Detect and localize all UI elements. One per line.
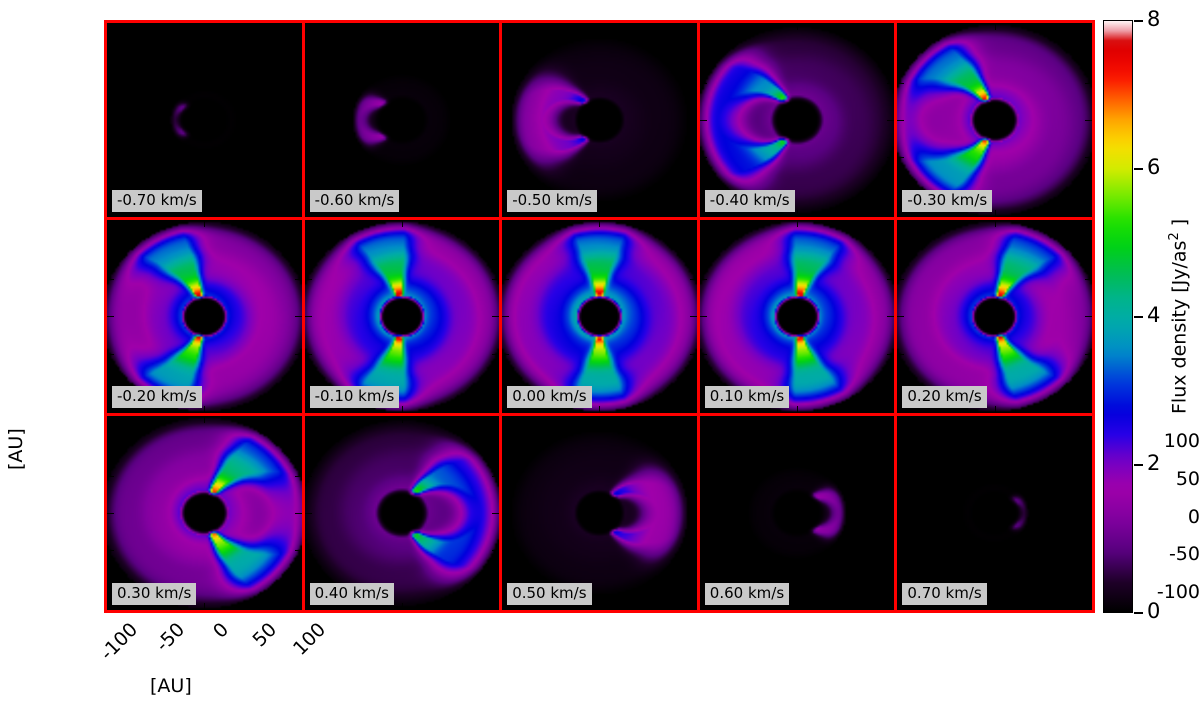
colorbar-tick-label: 8	[1147, 9, 1160, 30]
axis-tick	[502, 513, 509, 514]
velocity-label: 0.40 km/s	[310, 583, 394, 605]
channel-image	[305, 23, 500, 217]
axis-tick	[305, 476, 312, 477]
channel-panel[interactable]: 0.20 km/s	[897, 220, 1092, 414]
axis-tick	[674, 210, 675, 217]
axis-tick	[637, 220, 638, 227]
axis-tick	[402, 406, 403, 413]
axis-tick	[1085, 439, 1092, 440]
axis-tick	[690, 513, 697, 514]
axis-tick	[1070, 210, 1071, 217]
axis-tick	[402, 603, 403, 610]
axis-tick	[835, 220, 836, 227]
axis-tick	[872, 406, 873, 413]
axis-tick	[835, 603, 836, 610]
axis-tick	[242, 210, 243, 217]
axis-tick	[107, 550, 114, 551]
axis-tick	[957, 23, 958, 30]
axis-tick	[872, 23, 873, 30]
axis-tick	[887, 279, 894, 280]
axis-tick	[492, 316, 499, 317]
axis-tick	[1070, 406, 1071, 413]
axis-tick	[364, 416, 365, 423]
axis-tick	[204, 416, 205, 423]
axis-tick	[327, 416, 328, 423]
axis-tick	[107, 242, 114, 243]
axis-tick	[477, 416, 478, 423]
axis-tick	[204, 220, 205, 227]
colorbar-tick-label: 6	[1147, 157, 1160, 178]
axis-tick	[305, 45, 312, 46]
axis-tick	[995, 23, 996, 30]
axis-tick	[502, 279, 509, 280]
velocity-label: 0.10 km/s	[705, 386, 789, 408]
axis-tick	[599, 603, 600, 610]
channel-image	[700, 416, 895, 610]
axis-tick	[295, 120, 302, 121]
axis-tick	[690, 476, 697, 477]
axis-tick	[502, 316, 509, 317]
channel-panel[interactable]: -0.60 km/s	[305, 23, 500, 217]
axis-tick	[502, 476, 509, 477]
axis-tick	[1032, 416, 1033, 423]
axis-tick	[305, 120, 312, 121]
axis-tick	[897, 45, 904, 46]
axis-tick	[107, 476, 114, 477]
x-axis-label: [AU]	[150, 675, 192, 697]
axis-tick	[760, 220, 761, 227]
channel-image	[502, 23, 697, 217]
axis-tick	[204, 23, 205, 30]
velocity-label: -0.60 km/s	[310, 190, 400, 212]
axis-tick	[107, 83, 114, 84]
axis-tick	[835, 210, 836, 217]
axis-tick	[872, 220, 873, 227]
axis-tick	[887, 157, 894, 158]
x-tick-label: 0	[177, 620, 233, 676]
axis-tick	[700, 157, 707, 158]
axis-tick	[637, 210, 638, 217]
velocity-label: -0.10 km/s	[310, 386, 400, 408]
axis-tick	[327, 23, 328, 30]
axis-tick	[995, 406, 996, 413]
axis-tick	[1032, 23, 1033, 30]
axis-tick	[502, 439, 509, 440]
channel-panel[interactable]: -0.10 km/s	[305, 220, 500, 414]
colorbar-tick	[1134, 168, 1143, 170]
axis-tick	[599, 23, 600, 30]
axis-tick	[295, 550, 302, 551]
channel-image	[502, 220, 697, 414]
axis-tick	[690, 120, 697, 121]
axis-tick	[242, 23, 243, 30]
axis-tick	[477, 406, 478, 413]
channel-panel[interactable]: 0.40 km/s	[305, 416, 500, 610]
colorbar-tick	[1134, 316, 1143, 318]
axis-tick	[674, 406, 675, 413]
axis-tick	[1085, 83, 1092, 84]
axis-tick	[887, 550, 894, 551]
axis-tick	[295, 316, 302, 317]
axis-tick	[700, 242, 707, 243]
axis-tick	[797, 23, 798, 30]
axis-tick	[957, 416, 958, 423]
axis-tick	[700, 316, 707, 317]
axis-tick	[402, 23, 403, 30]
axis-tick	[872, 416, 873, 423]
axis-tick	[887, 194, 894, 195]
axis-tick	[364, 23, 365, 30]
axis-tick	[690, 354, 697, 355]
axis-tick	[492, 45, 499, 46]
axis-tick	[562, 220, 563, 227]
axis-tick	[887, 391, 894, 392]
axis-tick	[760, 416, 761, 423]
axis-tick	[477, 210, 478, 217]
axis-tick	[242, 416, 243, 423]
axis-tick	[502, 550, 509, 551]
axis-tick	[835, 406, 836, 413]
axis-tick	[402, 210, 403, 217]
panel-grid: -0.70 km/s-0.60 km/s-0.50 km/s-0.40 km/s…	[104, 20, 1095, 613]
channel-panel[interactable]: -0.70 km/s	[107, 23, 302, 217]
axis-tick	[1070, 416, 1071, 423]
axis-tick	[402, 416, 403, 423]
axis-tick	[1032, 210, 1033, 217]
axis-tick	[995, 220, 996, 227]
axis-tick	[492, 279, 499, 280]
velocity-label: -0.40 km/s	[705, 190, 795, 212]
axis-tick	[1085, 120, 1092, 121]
axis-tick	[674, 603, 675, 610]
axis-tick	[887, 316, 894, 317]
velocity-label: -0.50 km/s	[507, 190, 597, 212]
axis-tick	[295, 194, 302, 195]
axis-tick	[279, 210, 280, 217]
axis-tick	[492, 588, 499, 589]
channel-image	[305, 220, 500, 414]
axis-tick	[1070, 220, 1071, 227]
axis-tick	[1085, 550, 1092, 551]
x-tick-label: 100	[274, 620, 330, 676]
axis-tick	[1085, 242, 1092, 243]
axis-tick	[897, 157, 904, 158]
channel-panel[interactable]: -0.50 km/s	[502, 23, 697, 217]
axis-tick	[887, 476, 894, 477]
axis-tick	[887, 120, 894, 121]
axis-tick	[279, 416, 280, 423]
axis-tick	[674, 220, 675, 227]
axis-tick	[305, 439, 312, 440]
axis-tick	[1032, 603, 1033, 610]
axis-tick	[599, 406, 600, 413]
axis-tick	[295, 439, 302, 440]
axis-tick	[995, 603, 996, 610]
x-tick-label: 50	[225, 620, 281, 676]
axis-tick	[129, 220, 130, 227]
axis-tick	[1085, 354, 1092, 355]
axis-tick	[492, 391, 499, 392]
axis-tick	[492, 83, 499, 84]
channel-image	[700, 220, 895, 414]
axis-tick	[1085, 476, 1092, 477]
axis-tick	[897, 513, 904, 514]
channel-panel[interactable]: -0.40 km/s	[700, 23, 895, 217]
axis-tick	[797, 210, 798, 217]
axis-tick	[722, 23, 723, 30]
axis-tick	[835, 416, 836, 423]
axis-tick	[107, 316, 114, 317]
velocity-label: -0.30 km/s	[902, 190, 992, 212]
channel-image	[107, 416, 302, 610]
axis-tick	[897, 476, 904, 477]
channel-panel[interactable]: -0.30 km/s	[897, 23, 1092, 217]
colorbar-tick	[1134, 612, 1143, 614]
axis-tick	[107, 45, 114, 46]
axis-tick	[797, 220, 798, 227]
axis-tick	[305, 242, 312, 243]
axis-tick	[295, 279, 302, 280]
axis-tick	[107, 513, 114, 514]
axis-tick	[872, 210, 873, 217]
axis-tick	[129, 23, 130, 30]
axis-tick	[637, 416, 638, 423]
axis-tick	[167, 416, 168, 423]
axis-tick	[700, 476, 707, 477]
axis-tick	[637, 406, 638, 413]
channel-panel[interactable]: 0.60 km/s	[700, 416, 895, 610]
axis-tick	[492, 157, 499, 158]
axis-tick	[897, 242, 904, 243]
axis-tick	[690, 439, 697, 440]
x-tick-label: -50	[133, 620, 189, 676]
axis-tick	[637, 603, 638, 610]
velocity-label: 0.50 km/s	[507, 583, 591, 605]
axis-tick	[279, 23, 280, 30]
axis-tick	[700, 513, 707, 514]
axis-tick	[167, 23, 168, 30]
axis-tick	[897, 279, 904, 280]
axis-tick	[477, 220, 478, 227]
axis-tick	[492, 242, 499, 243]
axis-tick	[279, 220, 280, 227]
axis-tick	[279, 603, 280, 610]
axis-tick	[920, 23, 921, 30]
axis-tick	[492, 120, 499, 121]
axis-tick	[897, 120, 904, 121]
axis-tick	[295, 513, 302, 514]
axis-tick	[887, 513, 894, 514]
axis-tick	[107, 354, 114, 355]
channel-image	[897, 416, 1092, 610]
axis-tick	[920, 220, 921, 227]
axis-tick	[760, 23, 761, 30]
colorbar-gradient	[1104, 21, 1132, 612]
axis-tick	[305, 157, 312, 158]
axis-tick	[305, 279, 312, 280]
axis-tick	[887, 242, 894, 243]
channel-panel[interactable]: 0.30 km/s	[107, 416, 302, 610]
axis-tick	[502, 45, 509, 46]
axis-tick	[897, 83, 904, 84]
axis-tick	[167, 220, 168, 227]
axis-tick	[957, 220, 958, 227]
axis-tick	[107, 157, 114, 158]
axis-tick	[690, 550, 697, 551]
axis-tick	[402, 220, 403, 227]
axis-tick	[797, 603, 798, 610]
axis-tick	[439, 23, 440, 30]
axis-tick	[690, 588, 697, 589]
axis-tick	[722, 220, 723, 227]
axis-tick	[700, 120, 707, 121]
axis-tick	[242, 603, 243, 610]
channel-image	[305, 416, 500, 610]
axis-tick	[107, 120, 114, 121]
axis-tick	[295, 354, 302, 355]
colorbar-label-tail: ]	[1168, 219, 1190, 232]
axis-tick	[492, 354, 499, 355]
axis-tick	[690, 157, 697, 158]
axis-tick	[690, 45, 697, 46]
axis-tick	[835, 23, 836, 30]
colorbar-axis-label: Flux density [Jy/as2 ]	[1167, 219, 1190, 414]
channel-image	[897, 220, 1092, 414]
channel-image	[107, 220, 302, 414]
axis-tick	[295, 83, 302, 84]
axis-tick	[492, 194, 499, 195]
y-axis-label: [AU]	[5, 428, 27, 470]
axis-tick	[204, 406, 205, 413]
velocity-label: 0.30 km/s	[112, 583, 196, 605]
axis-tick	[129, 416, 130, 423]
channel-panel[interactable]: 0.10 km/s	[700, 220, 895, 414]
axis-tick	[502, 354, 509, 355]
axis-tick	[502, 157, 509, 158]
axis-tick	[107, 439, 114, 440]
axis-tick	[995, 416, 996, 423]
axis-tick	[690, 316, 697, 317]
channel-image	[502, 416, 697, 610]
axis-tick	[525, 220, 526, 227]
axis-tick	[1085, 391, 1092, 392]
axis-tick	[305, 354, 312, 355]
axis-tick	[439, 210, 440, 217]
axis-tick	[887, 45, 894, 46]
axis-tick	[439, 416, 440, 423]
axis-tick	[305, 316, 312, 317]
axis-tick	[364, 220, 365, 227]
channel-image	[897, 23, 1092, 217]
x-tick-label: -100	[86, 620, 142, 676]
axis-tick	[327, 220, 328, 227]
axis-tick	[502, 120, 509, 121]
axis-tick	[204, 603, 205, 610]
axis-tick	[439, 220, 440, 227]
axis-tick	[1085, 279, 1092, 280]
axis-tick	[690, 194, 697, 195]
axis-tick	[502, 242, 509, 243]
axis-tick	[107, 279, 114, 280]
axis-tick	[492, 476, 499, 477]
colorbar-tick	[1134, 20, 1143, 22]
channel-panel[interactable]: 0.50 km/s	[502, 416, 697, 610]
axis-tick	[887, 588, 894, 589]
axis-tick	[797, 406, 798, 413]
axis-tick	[1070, 23, 1071, 30]
axis-tick	[599, 416, 600, 423]
axis-tick	[920, 416, 921, 423]
colorbar-tick-label: 2	[1147, 453, 1160, 474]
axis-tick	[439, 603, 440, 610]
axis-tick	[477, 603, 478, 610]
axis-tick	[492, 550, 499, 551]
axis-tick	[502, 83, 509, 84]
axis-tick	[305, 513, 312, 514]
axis-tick	[295, 157, 302, 158]
axis-tick	[1085, 194, 1092, 195]
axis-tick	[562, 416, 563, 423]
velocity-label: 0.70 km/s	[902, 583, 986, 605]
axis-tick	[690, 279, 697, 280]
axis-tick	[700, 45, 707, 46]
axis-tick	[242, 220, 243, 227]
axis-tick	[674, 23, 675, 30]
axis-tick	[700, 279, 707, 280]
axis-tick	[1032, 220, 1033, 227]
axis-tick	[1085, 513, 1092, 514]
colorbar-label-main: Flux density [Jy/as	[1168, 241, 1190, 414]
channel-image	[107, 23, 302, 217]
axis-tick	[690, 391, 697, 392]
channel-panel[interactable]: -0.20 km/s	[107, 220, 302, 414]
channel-panel[interactable]: 0.70 km/s	[897, 416, 1092, 610]
axis-tick	[897, 550, 904, 551]
axis-tick	[204, 210, 205, 217]
axis-tick	[897, 316, 904, 317]
axis-tick	[295, 588, 302, 589]
axis-tick	[242, 406, 243, 413]
colorbar-tick-label: 0	[1147, 601, 1160, 622]
axis-tick	[887, 83, 894, 84]
velocity-label: 0.20 km/s	[902, 386, 986, 408]
axis-tick	[1032, 406, 1033, 413]
axis-tick	[295, 476, 302, 477]
axis-tick	[525, 23, 526, 30]
axis-tick	[599, 210, 600, 217]
channel-panel[interactable]: 0.00 km/s	[502, 220, 697, 414]
channel-map-figure: 100 50 0 -50 -100 [AU] -100 -50 0 50 100…	[0, 0, 1200, 721]
axis-tick	[1070, 603, 1071, 610]
axis-tick	[1085, 316, 1092, 317]
axis-tick	[477, 23, 478, 30]
colorbar	[1103, 20, 1133, 613]
velocity-label: 0.00 km/s	[507, 386, 591, 408]
axis-tick	[439, 406, 440, 413]
colorbar-tick	[1134, 464, 1143, 466]
axis-tick	[492, 513, 499, 514]
axis-tick	[295, 45, 302, 46]
axis-tick	[887, 439, 894, 440]
axis-tick	[295, 391, 302, 392]
axis-tick	[897, 439, 904, 440]
axis-tick	[1085, 157, 1092, 158]
velocity-label: -0.70 km/s	[112, 190, 202, 212]
velocity-label: -0.20 km/s	[112, 386, 202, 408]
channel-image	[700, 23, 895, 217]
axis-tick	[305, 83, 312, 84]
axis-tick	[295, 242, 302, 243]
